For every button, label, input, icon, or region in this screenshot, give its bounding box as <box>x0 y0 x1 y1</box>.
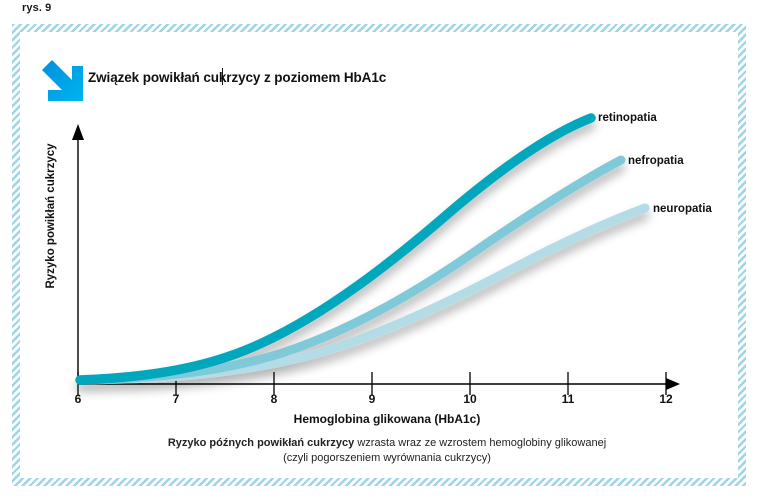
series-curve-retinopatia <box>80 118 591 380</box>
caption-bold-lead: Ryzyko późnych powikłań cukrzycy <box>168 437 354 449</box>
x-tick-9: 9 <box>361 392 383 406</box>
figure-caption: Ryzyko późnych powikłań cukrzycy wzrasta… <box>20 436 738 466</box>
series-label-neuropatia: neuropatia <box>653 203 712 215</box>
series-label-retinopatia: retinopatia <box>598 112 657 124</box>
y-axis-arrowhead <box>72 124 84 140</box>
x-tick-11: 11 <box>557 392 579 406</box>
figure-number: rys. 9 <box>22 2 51 14</box>
x-tick-10: 10 <box>459 392 481 406</box>
x-axis-label: Hemoglobina glikowana (HbA1c) <box>20 412 738 426</box>
x-tick-8: 8 <box>263 392 285 406</box>
series-label-nefropatia: nefropatia <box>628 155 684 167</box>
y-axis-label: Ryzyko powikłań cukrzycy <box>45 111 57 321</box>
figure-inner: Związek powikłań cukrzycy z poziomem HbA… <box>20 32 738 478</box>
x-tick-7: 7 <box>165 392 187 406</box>
caption-rest: wzrasta wraz ze wzrostem hemoglobiny gli… <box>354 437 606 449</box>
series-curve-neuropatia <box>80 208 645 380</box>
x-tick-6: 6 <box>67 392 89 406</box>
caption-line-2: (czyli pogorszeniem wyrównania cukrzycy) <box>20 451 738 466</box>
axis-lines <box>78 132 666 384</box>
caption-line-1: Ryzyko późnych powikłań cukrzycy wzrasta… <box>20 436 738 451</box>
figure-frame: Związek powikłań cukrzycy z poziomem HbA… <box>12 24 746 486</box>
plot-area: Ryzyko powikłań cukrzycy Hemoglobina gli… <box>20 32 738 478</box>
x-tick-12: 12 <box>655 392 677 406</box>
series-curve-nefropatia <box>80 160 621 380</box>
x-axis-arrowhead <box>666 378 680 390</box>
